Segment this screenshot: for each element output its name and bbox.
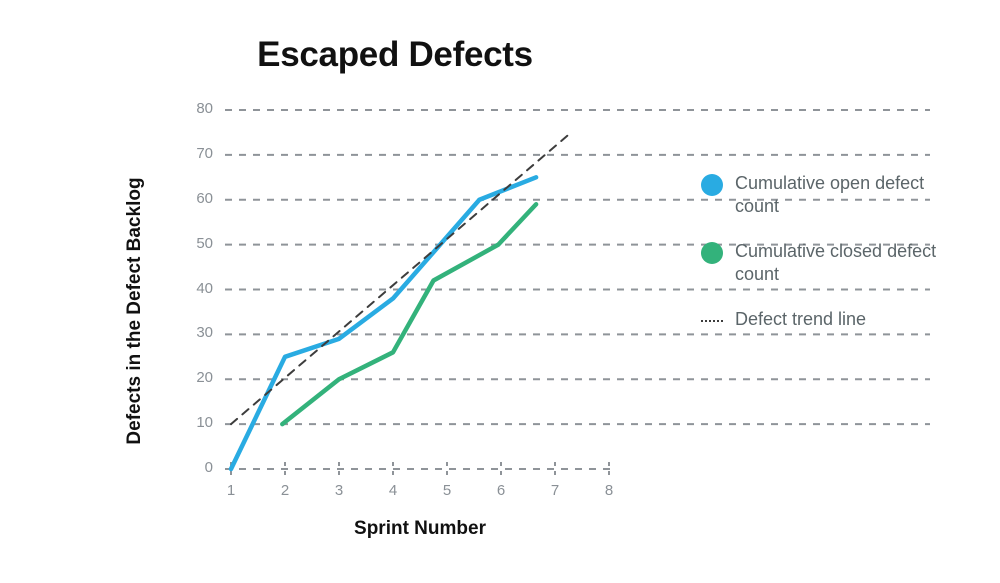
legend-circle-icon (701, 242, 723, 264)
x-axis-tick-label: 4 (378, 482, 408, 499)
escaped-defects-chart: Escaped Defects Defects in the Defect Ba… (0, 0, 1000, 583)
x-axis-tick-label: 2 (270, 482, 300, 499)
legend-circle-icon (701, 174, 723, 196)
x-axis-tick-label: 8 (594, 482, 624, 499)
y-axis-tick-label: 0 (179, 459, 213, 476)
series-line-1 (282, 204, 536, 424)
legend-item-open-defects[interactable]: Cumulative open defect count (701, 172, 981, 218)
series-lines (231, 132, 571, 469)
x-axis-tick-label: 3 (324, 482, 354, 499)
chart-legend: Cumulative open defect count Cumulative … (701, 172, 981, 354)
y-axis-tick-label: 30 (179, 324, 213, 341)
y-axis-tick-label: 20 (179, 369, 213, 386)
x-axis-tick-label: 6 (486, 482, 516, 499)
y-axis-tick-label: 10 (179, 414, 213, 431)
series-line-0 (231, 177, 536, 469)
legend-item-trend-line[interactable]: Defect trend line (701, 308, 981, 332)
x-axis-tick-label: 5 (432, 482, 462, 499)
legend-dash-icon (701, 310, 723, 332)
y-axis-tick-label: 50 (179, 235, 213, 252)
y-axis-tick-label: 80 (179, 100, 213, 117)
x-axis-tick-label: 1 (216, 482, 246, 499)
x-axis-tick-label: 7 (540, 482, 570, 499)
series-line-2 (231, 132, 571, 424)
y-axis-tick-label: 70 (179, 145, 213, 162)
legend-item-label: Defect trend line (735, 308, 866, 331)
y-axis-tick-label: 60 (179, 190, 213, 207)
y-axis-tick-label: 40 (179, 280, 213, 297)
legend-item-closed-defects[interactable]: Cumulative closed defect count (701, 240, 981, 286)
legend-item-label: Cumulative closed defect count (735, 240, 945, 286)
legend-item-label: Cumulative open defect count (735, 172, 945, 218)
